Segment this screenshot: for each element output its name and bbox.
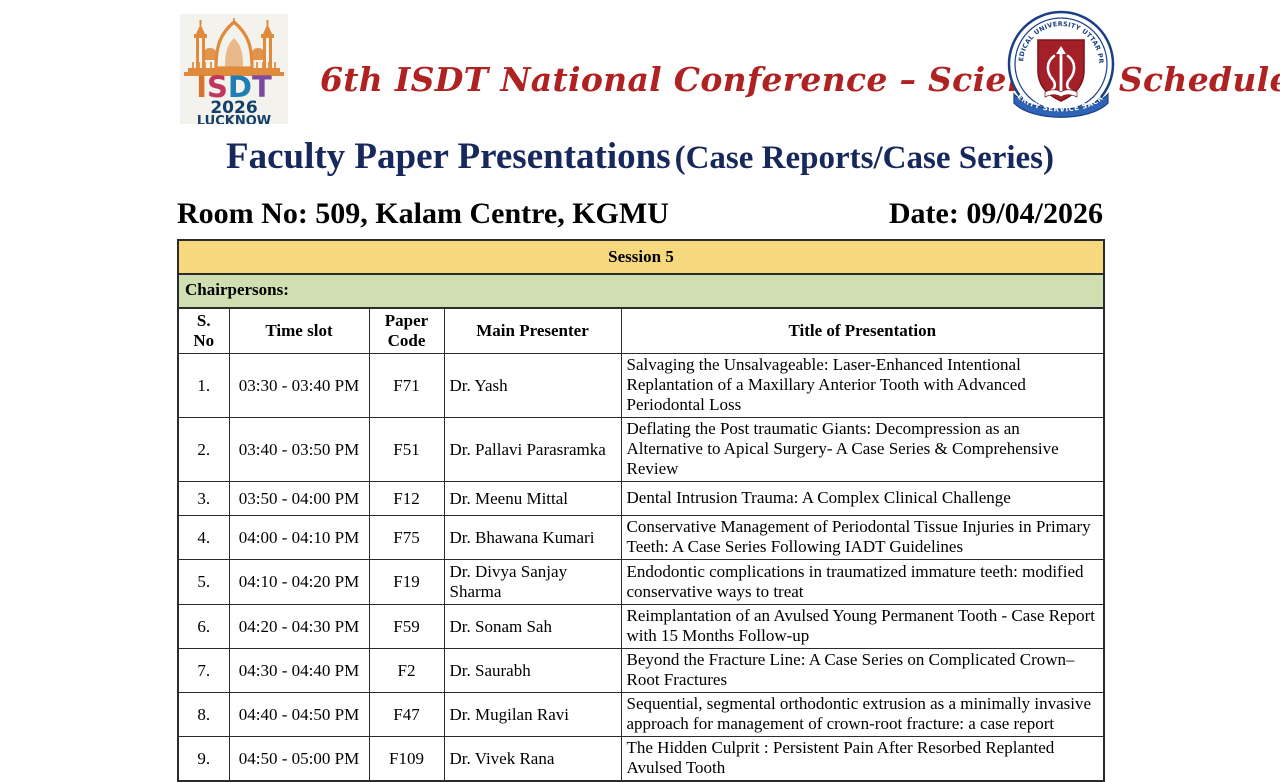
isdt-lucknow-logo: ISDT 2026 LUCKNOW bbox=[180, 14, 288, 124]
cell-code: F12 bbox=[369, 482, 444, 516]
page-header: ISDT 2026 LUCKNOW 6th ISDT National Conf… bbox=[0, 0, 1280, 132]
column-header-code: Paper Code bbox=[369, 308, 444, 354]
cell-sno: 3. bbox=[178, 482, 229, 516]
cell-sno: 7. bbox=[178, 649, 229, 693]
column-header-presenter: Main Presenter bbox=[444, 308, 621, 354]
cell-time: 04:10 - 04:20 PM bbox=[229, 560, 369, 605]
table-row: 6. 04:20 - 04:30 PM F59 Dr. Sonam Sah Re… bbox=[178, 605, 1104, 649]
cell-time: 04:50 - 05:00 PM bbox=[229, 737, 369, 782]
sno-line1: S. bbox=[197, 311, 211, 330]
cell-title: Conservative Management of Periodontal T… bbox=[621, 516, 1104, 560]
cell-title: Beyond the Fracture Line: A Case Series … bbox=[621, 649, 1104, 693]
cell-title: Reimplantation of an Avulsed Young Perma… bbox=[621, 605, 1104, 649]
cell-presenter: Dr. Yash bbox=[444, 354, 621, 418]
cell-code: F51 bbox=[369, 418, 444, 482]
cell-sno: 9. bbox=[178, 737, 229, 782]
cell-sno: 5. bbox=[178, 560, 229, 605]
cell-code: F109 bbox=[369, 737, 444, 782]
cell-sno: 8. bbox=[178, 693, 229, 737]
cell-code: F71 bbox=[369, 354, 444, 418]
cell-time: 04:40 - 04:50 PM bbox=[229, 693, 369, 737]
cell-title: Endodontic complications in traumatized … bbox=[621, 560, 1104, 605]
cell-sno: 4. bbox=[178, 516, 229, 560]
table-header-row: S. No Time slot Paper Code Main Presente… bbox=[178, 308, 1104, 354]
session-row: Session 5 bbox=[178, 240, 1104, 274]
room-date-line: Room No: 509, Kalam Centre, KGMU Date: 0… bbox=[175, 197, 1105, 231]
cell-code: F75 bbox=[369, 516, 444, 560]
cell-title: The Hidden Culprit : Persistent Pain Aft… bbox=[621, 737, 1104, 782]
table-row: 8. 04:40 - 04:50 PM F47 Dr. Mugilan Ravi… bbox=[178, 693, 1104, 737]
schedule-table-wrapper: Session 5 Chairpersons: S. No Time slot … bbox=[177, 239, 1103, 782]
cell-code: F59 bbox=[369, 605, 444, 649]
conference-script-title: 6th ISDT National Conference – Scientifi… bbox=[320, 60, 980, 99]
page-title-primary: Faculty Paper Presentations bbox=[226, 136, 671, 177]
cell-title: Deflating the Post traumatic Giants: Dec… bbox=[621, 418, 1104, 482]
table-row: 3. 03:50 - 04:00 PM F12 Dr. Meenu Mittal… bbox=[178, 482, 1104, 516]
cell-time: 03:50 - 04:00 PM bbox=[229, 482, 369, 516]
cell-presenter: Dr. Mugilan Ravi bbox=[444, 693, 621, 737]
cell-time: 04:20 - 04:30 PM bbox=[229, 605, 369, 649]
table-row: 9. 04:50 - 05:00 PM F109 Dr. Vivek Rana … bbox=[178, 737, 1104, 782]
cell-title: Dental Intrusion Trauma: A Complex Clini… bbox=[621, 482, 1104, 516]
table-row: 7. 04:30 - 04:40 PM F2 Dr. Saurabh Beyon… bbox=[178, 649, 1104, 693]
cell-time: 04:00 - 04:10 PM bbox=[229, 516, 369, 560]
chairpersons-row: Chairpersons: bbox=[178, 274, 1104, 308]
cell-code: F47 bbox=[369, 693, 444, 737]
page-title-secondary: (Case Reports/Case Series) bbox=[675, 140, 1054, 176]
cell-presenter: Dr. Vivek Rana bbox=[444, 737, 621, 782]
kgmu-crest-logo: KING GEORGE'S MEDICAL UNIVERSITY UTTAR P… bbox=[1002, 8, 1120, 126]
cell-title: Salvaging the Unsalvageable: Laser-Enhan… bbox=[621, 354, 1104, 418]
cell-presenter: Dr. Bhawana Kumari bbox=[444, 516, 621, 560]
cell-time: 03:40 - 03:50 PM bbox=[229, 418, 369, 482]
cell-presenter: Dr. Meenu Mittal bbox=[444, 482, 621, 516]
schedule-table: Session 5 Chairpersons: S. No Time slot … bbox=[177, 239, 1105, 782]
table-row: 5. 04:10 - 04:20 PM F19 Dr. Divya Sanjay… bbox=[178, 560, 1104, 605]
chairpersons-label: Chairpersons: bbox=[178, 274, 1104, 308]
cell-sno: 1. bbox=[178, 354, 229, 418]
cell-sno: 6. bbox=[178, 605, 229, 649]
code-line1: Paper bbox=[385, 311, 428, 330]
sno-line2: No bbox=[193, 331, 214, 350]
cell-presenter: Dr. Divya Sanjay Sharma bbox=[444, 560, 621, 605]
page-title: Faculty Paper Presentations (Case Report… bbox=[0, 136, 1280, 185]
cell-presenter: Dr. Saurabh bbox=[444, 649, 621, 693]
isdt-logo-city: LUCKNOW bbox=[180, 115, 288, 124]
column-header-time: Time slot bbox=[229, 308, 369, 354]
session-label: Session 5 bbox=[178, 240, 1104, 274]
cell-presenter: Dr. Pallavi Parasramka bbox=[444, 418, 621, 482]
cell-time: 03:30 - 03:40 PM bbox=[229, 354, 369, 418]
column-header-sno: S. No bbox=[178, 308, 229, 354]
room-text: Room No: 509, Kalam Centre, KGMU bbox=[177, 197, 669, 231]
code-line2: Code bbox=[388, 331, 426, 350]
cell-title: Sequential, segmental orthodontic extrus… bbox=[621, 693, 1104, 737]
cell-code: F2 bbox=[369, 649, 444, 693]
table-row: 1. 03:30 - 03:40 PM F71 Dr. Yash Salvagi… bbox=[178, 354, 1104, 418]
cell-presenter: Dr. Sonam Sah bbox=[444, 605, 621, 649]
cell-time: 04:30 - 04:40 PM bbox=[229, 649, 369, 693]
table-row: 4. 04:00 - 04:10 PM F75 Dr. Bhawana Kuma… bbox=[178, 516, 1104, 560]
date-text: Date: 09/04/2026 bbox=[889, 197, 1103, 231]
lucknow-monument-icon bbox=[180, 18, 288, 76]
isdt-letter-i: I bbox=[196, 70, 207, 104]
column-header-title: Title of Presentation bbox=[621, 308, 1104, 354]
cell-code: F19 bbox=[369, 560, 444, 605]
cell-sno: 2. bbox=[178, 418, 229, 482]
table-row: 2. 03:40 - 03:50 PM F51 Dr. Pallavi Para… bbox=[178, 418, 1104, 482]
